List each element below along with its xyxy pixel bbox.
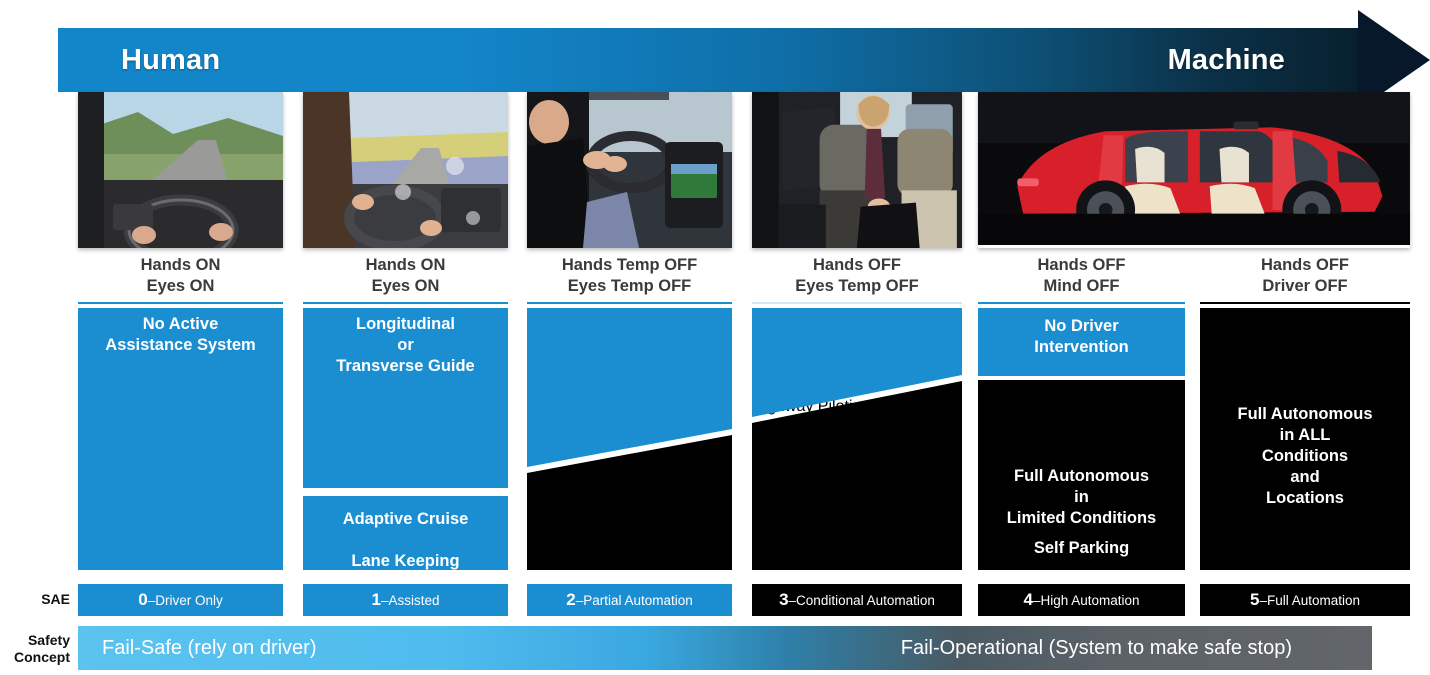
sae-level-5: 5–Full Automation bbox=[1200, 584, 1410, 616]
caption-line2: Eyes ON bbox=[303, 276, 508, 297]
feature-stack-5: No DriverInterventionFull AutonomousinLi… bbox=[978, 308, 1185, 570]
diagonal-split-box bbox=[752, 308, 962, 570]
sae-level-number: 1 bbox=[372, 590, 381, 609]
sae-level-number: 3 bbox=[779, 590, 788, 609]
fail-operational-label: Fail-Operational (System to make safe st… bbox=[901, 626, 1292, 670]
sae-level-1: 1–Assisted bbox=[303, 584, 508, 616]
sae-level-name: –High Automation bbox=[1033, 593, 1140, 608]
caption-line1: Hands OFF bbox=[752, 255, 962, 276]
column-photo-1 bbox=[78, 92, 283, 248]
automation-level-columns: Hands ONEyes ONNo ActiveAssistance Syste… bbox=[0, 0, 1430, 675]
caption-line1: Hands OFF bbox=[978, 255, 1185, 276]
safety-concept-bar: Fail-Safe (rely on driver) Fail-Operatio… bbox=[78, 626, 1372, 670]
feature-box: No ActiveAssistance System bbox=[78, 308, 283, 570]
feature-stack-6: Full Autonomousin ALLConditionsandLocati… bbox=[1200, 308, 1410, 570]
column-photo-2 bbox=[303, 92, 508, 248]
caption-line2: Eyes Temp OFF bbox=[752, 276, 962, 297]
caption-underline-6 bbox=[1200, 302, 1410, 304]
sae-row-label: SAE bbox=[10, 591, 70, 608]
driver-state-caption-6: Hands OFFDriver OFF bbox=[1200, 255, 1410, 301]
feature-box-lower: Full AutonomousinLimited ConditionsSelf … bbox=[978, 380, 1185, 570]
sae-level-name: –Driver Only bbox=[148, 593, 223, 608]
feature-text: Adaptive CruiseLane Keeping bbox=[303, 509, 508, 570]
safety-concept-row-label: Safety Concept bbox=[2, 632, 70, 666]
caption-underline-4 bbox=[752, 302, 962, 304]
driver-state-caption-2: Hands ONEyes ON bbox=[303, 255, 508, 301]
feature-box-lower: Adaptive CruiseLane Keeping bbox=[303, 496, 508, 570]
safety-label-line2: Concept bbox=[14, 649, 70, 665]
sae-level-name: –Assisted bbox=[381, 593, 440, 608]
caption-line2: Driver OFF bbox=[1200, 276, 1410, 297]
sae-level-name: –Full Automation bbox=[1259, 593, 1360, 608]
caption-line2: Mind OFF bbox=[978, 276, 1185, 297]
feature-text: LongitudinalorTransverse Guide bbox=[303, 314, 508, 377]
feature-box-upper: No DriverIntervention bbox=[978, 308, 1185, 376]
feature-stack-1: No ActiveAssistance System bbox=[78, 308, 283, 570]
feature-stack-3: Traffic ControlAdaptive Cruise +Lane Kee… bbox=[527, 308, 732, 570]
safety-label-line1: Safety bbox=[28, 632, 70, 648]
caption-underline-1 bbox=[78, 302, 283, 304]
caption-line1: Hands Temp OFF bbox=[527, 255, 732, 276]
caption-underline-2 bbox=[303, 302, 508, 304]
column-photo-5-6-autonomous-car bbox=[978, 92, 1410, 248]
sae-level-0: 0–Driver Only bbox=[78, 584, 283, 616]
feature-stack-4: Awareness forTake OverDriver ControlTran… bbox=[752, 308, 962, 570]
sae-level-2: 2–Partial Automation bbox=[527, 584, 732, 616]
diagonal-split-box bbox=[527, 308, 732, 570]
fail-safe-label: Fail-Safe (rely on driver) bbox=[102, 626, 317, 670]
column-photo-3 bbox=[527, 92, 732, 248]
sae-level-number: 0 bbox=[138, 590, 147, 609]
sae-level-number: 2 bbox=[566, 590, 575, 609]
driver-state-caption-1: Hands ONEyes ON bbox=[78, 255, 283, 301]
feature-stack-2: LongitudinalorTransverse GuideAdaptive C… bbox=[303, 308, 508, 570]
driver-state-caption-4: Hands OFFEyes Temp OFF bbox=[752, 255, 962, 301]
feature-text: Full Autonomousin ALLConditionsandLocati… bbox=[1200, 404, 1410, 509]
driver-state-caption-5: Hands OFFMind OFF bbox=[978, 255, 1185, 301]
sae-level-name: –Partial Automation bbox=[576, 593, 693, 608]
feature-text: No ActiveAssistance System bbox=[78, 314, 283, 356]
feature-text: No DriverIntervention bbox=[978, 316, 1185, 358]
caption-line2: Eyes ON bbox=[78, 276, 283, 297]
caption-line2: Eyes Temp OFF bbox=[527, 276, 732, 297]
feature-box: Full Autonomousin ALLConditionsandLocati… bbox=[1200, 308, 1410, 570]
sae-level-3: 3–Conditional Automation bbox=[752, 584, 962, 616]
driver-state-caption-3: Hands Temp OFFEyes Temp OFF bbox=[527, 255, 732, 301]
caption-line1: Hands ON bbox=[78, 255, 283, 276]
caption-underline-3 bbox=[527, 302, 732, 304]
feature-text: Self Parking bbox=[978, 538, 1185, 559]
sae-level-4: 4–High Automation bbox=[978, 584, 1185, 616]
caption-line1: Hands ON bbox=[303, 255, 508, 276]
feature-box-upper: LongitudinalorTransverse Guide bbox=[303, 308, 508, 488]
caption-underline-5 bbox=[978, 302, 1185, 304]
feature-text: Full AutonomousinLimited Conditions bbox=[978, 466, 1185, 529]
sae-level-name: –Conditional Automation bbox=[789, 593, 935, 608]
column-photo-4 bbox=[752, 92, 962, 248]
caption-line1: Hands OFF bbox=[1200, 255, 1410, 276]
sae-level-number: 4 bbox=[1023, 590, 1032, 609]
